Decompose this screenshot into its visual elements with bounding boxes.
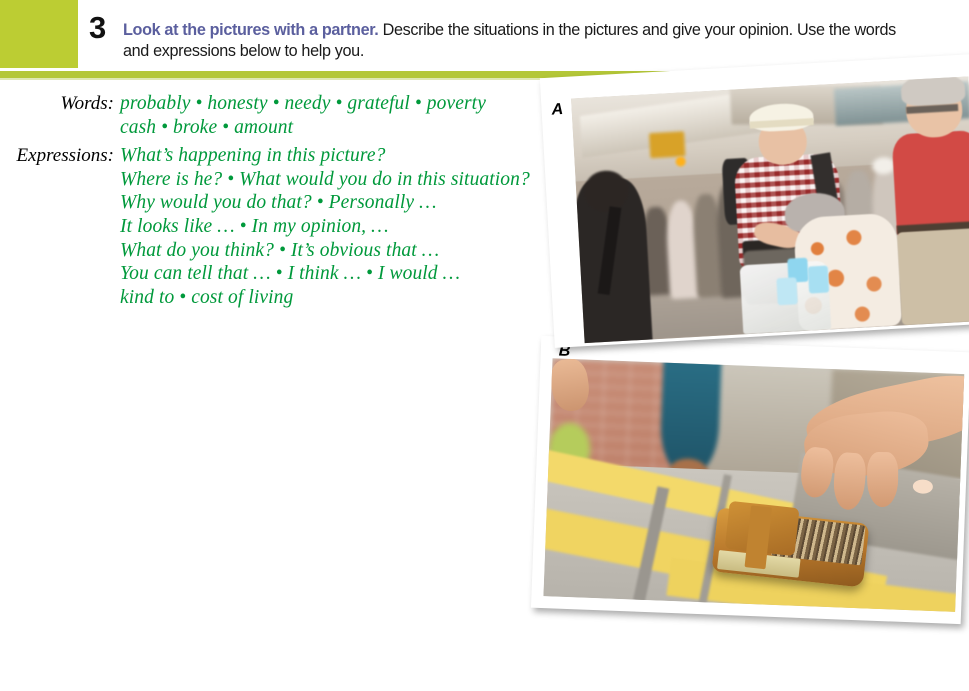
words-label: Words: xyxy=(61,92,115,115)
photo-b: B xyxy=(531,336,969,624)
man-khaki-shorts xyxy=(897,228,969,326)
exercise-number: 3 xyxy=(89,12,106,43)
words-line: cash • broke • amount xyxy=(120,116,550,140)
exercise-instruction: Look at the pictures with a partner. Des… xyxy=(123,20,913,62)
expressions-label: Expressions: xyxy=(17,144,114,167)
water-bottle xyxy=(808,266,829,294)
market-sign xyxy=(649,131,686,157)
instruction-lead: Look at the pictures with a partner. xyxy=(123,21,378,39)
expression-line: You can tell that … • I think … • I woul… xyxy=(120,262,550,286)
wordbank-content: probably • honesty • needy • grateful • … xyxy=(120,92,550,309)
expression-line: It looks like … • In my opinion, … xyxy=(120,215,550,239)
expression-line: kind to • cost of living xyxy=(120,286,550,310)
expression-line: Where is he? • What would you do in this… xyxy=(120,168,550,192)
finger xyxy=(867,452,898,507)
words-line: probably • honesty • needy • grateful • … xyxy=(120,92,550,116)
expression-line: What do you think? • It’s obvious that … xyxy=(120,239,550,263)
expression-line: What’s happening in this picture? xyxy=(120,144,550,168)
photo-b-image xyxy=(543,358,964,612)
header-accent-block xyxy=(0,0,78,68)
water-bottle xyxy=(776,277,797,305)
photo-a: A xyxy=(540,54,969,348)
photo-a-label: A xyxy=(551,101,564,120)
man-grey-hair xyxy=(901,76,966,107)
expression-line: Why would you do that? • Personally … xyxy=(120,191,550,215)
walking-person-jeans xyxy=(659,358,721,474)
photo-a-image xyxy=(571,76,969,343)
